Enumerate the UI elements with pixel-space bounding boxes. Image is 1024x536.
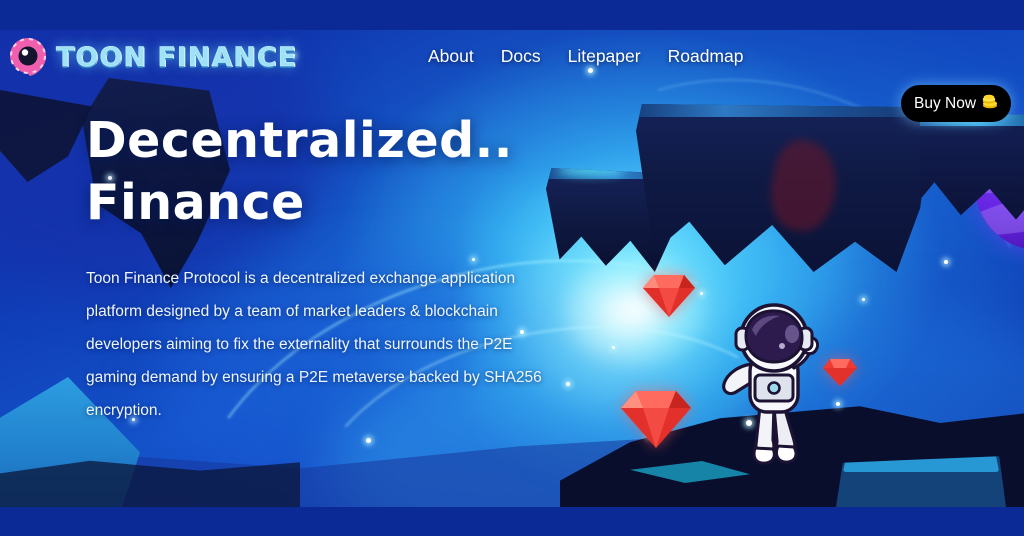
astronaut-character-icon xyxy=(722,302,826,468)
brand-logo[interactable]: TOON FINANCE xyxy=(8,36,297,78)
star-sparkle xyxy=(862,298,865,301)
page-title: Decentralized.. Finance xyxy=(86,110,606,234)
star-sparkle xyxy=(836,402,840,406)
donut-eye-logo-icon xyxy=(8,36,48,78)
red-gem-icon xyxy=(621,388,691,448)
letterbox-bottom xyxy=(0,507,1024,536)
brand-name: TOON FINANCE xyxy=(56,42,297,73)
letterbox-top xyxy=(0,0,1024,30)
hero-title-line-2: Finance xyxy=(86,172,606,234)
hero-title-line-1: Decentralized.. xyxy=(86,110,606,172)
buy-now-label: Buy Now xyxy=(914,95,976,113)
buy-now-button[interactable]: Buy Now xyxy=(901,85,1011,122)
star-sparkle xyxy=(944,260,948,264)
main-navigation: About Docs Litepaper Roadmap xyxy=(428,46,743,67)
star-sparkle xyxy=(700,292,703,295)
nav-item-litepaper[interactable]: Litepaper xyxy=(568,46,641,67)
rock-cap xyxy=(636,104,932,117)
nav-item-roadmap[interactable]: Roadmap xyxy=(668,46,744,67)
site-header: TOON FINANCE About Docs Litepaper Roadma… xyxy=(0,30,1024,100)
red-gem-icon xyxy=(643,273,695,317)
page-root: TOON FINANCE About Docs Litepaper Roadma… xyxy=(0,0,1024,536)
coins-icon xyxy=(981,94,998,113)
nav-item-docs[interactable]: Docs xyxy=(501,46,541,67)
star-sparkle xyxy=(366,438,371,443)
hero-content: Decentralized.. Finance Toon Finance Pro… xyxy=(86,110,606,427)
red-gem-icon xyxy=(823,358,857,386)
nav-item-about[interactable]: About xyxy=(428,46,474,67)
hero-description: Toon Finance Protocol is a decentralized… xyxy=(86,262,556,427)
star-sparkle xyxy=(612,346,615,349)
rock-vein xyxy=(765,136,844,236)
